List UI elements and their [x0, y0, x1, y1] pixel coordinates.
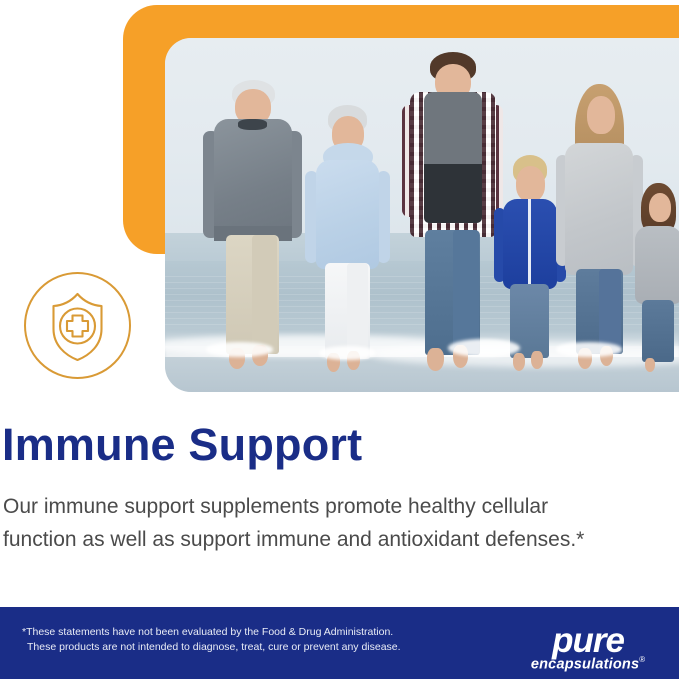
brand-subwordmark-wrap: encapsulations®	[513, 656, 663, 672]
water-splash-3	[448, 339, 520, 357]
pure-encapsulations-logo: pure encapsulations®	[513, 623, 663, 672]
water-splash-1	[206, 342, 273, 356]
disclaimer-line-2: These products are not intended to diagn…	[22, 640, 452, 655]
person-father	[401, 52, 504, 381]
disclaimer-line-1: *These statements have not been evaluate…	[22, 626, 393, 638]
registered-trademark-icon: ®	[639, 655, 645, 664]
person-older-woman	[304, 105, 391, 378]
family-walking-in-surf-photo	[165, 38, 679, 392]
water-splash-4	[556, 342, 623, 356]
page-description: Our immune support supplements promote h…	[3, 490, 618, 556]
water-splash-2	[319, 346, 376, 360]
person-girl	[628, 183, 679, 378]
footer-bar: *These statements have not been evaluate…	[0, 607, 679, 679]
brand-subwordmark: encapsulations	[531, 656, 639, 672]
page-title: Immune Support	[2, 419, 362, 471]
footer-disclaimer: *These statements have not been evaluate…	[22, 625, 452, 655]
person-older-man	[201, 80, 304, 377]
shield-cross-icon	[23, 271, 132, 380]
brand-wordmark: pure	[513, 623, 663, 658]
